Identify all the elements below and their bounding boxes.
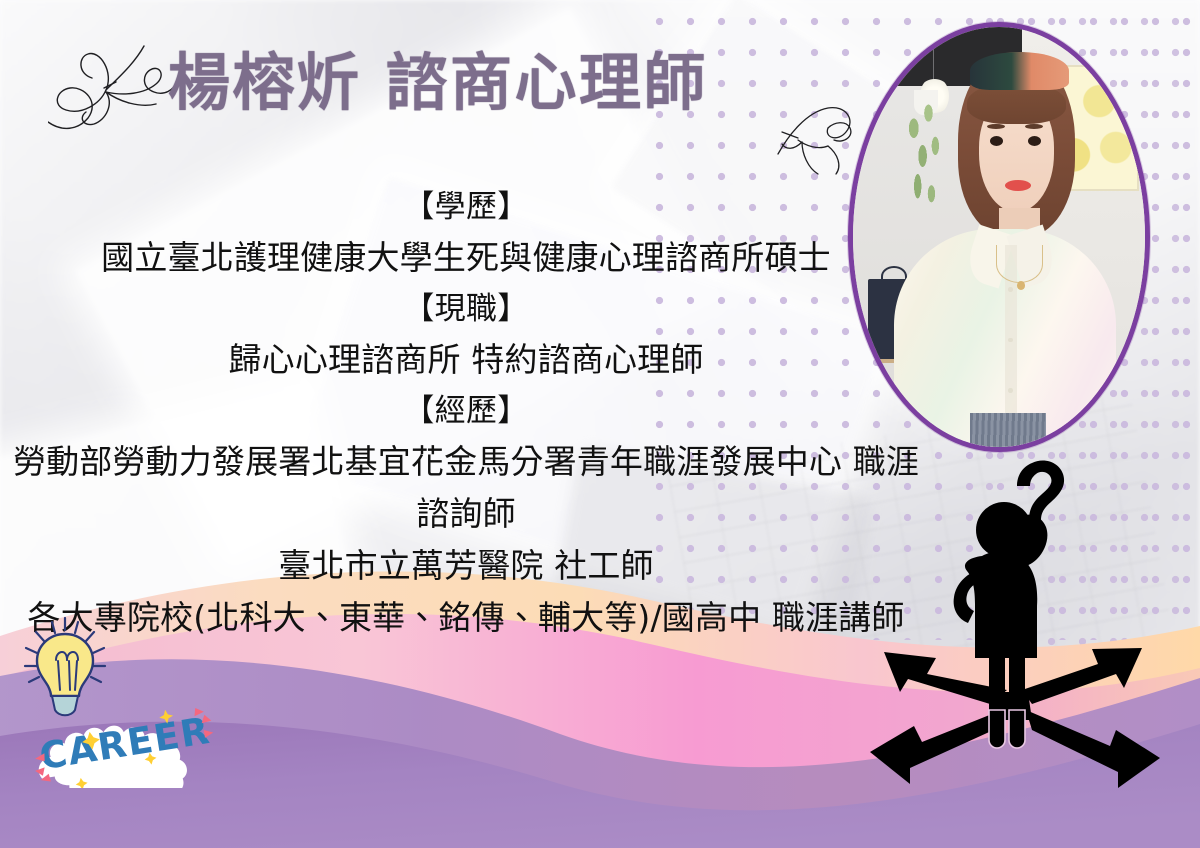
experience-line: 勞動部勞動力發展署北基宜花金馬分署青年職涯發展中心 職涯諮詢師	[0, 436, 932, 540]
portrait-photo	[848, 22, 1150, 452]
experience-line: 臺北市立萬芳醫院 社工師	[0, 540, 932, 592]
poster-canvas: 楊榕炘 諮商心理師 【學歷】 國立臺北護理健康大學生死與健康心理諮商所碩士 【現…	[0, 0, 1200, 848]
profile-text-block: 【學歷】 國立臺北護理健康大學生死與健康心理諮商所碩士 【現職】 歸心心理諮商所…	[0, 182, 932, 644]
current-position-line: 歸心心理諮商所 特約諮商心理師	[0, 334, 932, 386]
section-heading-experience: 【經歷】	[0, 386, 932, 436]
page-title: 楊榕炘 諮商心理師	[168, 52, 708, 114]
status-badge: CAREER	[18, 700, 238, 788]
butterfly-line-icon	[48, 38, 188, 159]
experience-line: 各大專院校(北科大、東華、銘傳、輔大等)/國高中 職涯講師	[0, 592, 932, 644]
education-line: 國立臺北護理健康大學生死與健康心理諮商所碩士	[0, 232, 932, 284]
section-heading-education: 【學歷】	[0, 182, 932, 232]
thinking-person-icon	[826, 452, 1200, 848]
section-heading-current-position: 【現職】	[0, 284, 932, 334]
